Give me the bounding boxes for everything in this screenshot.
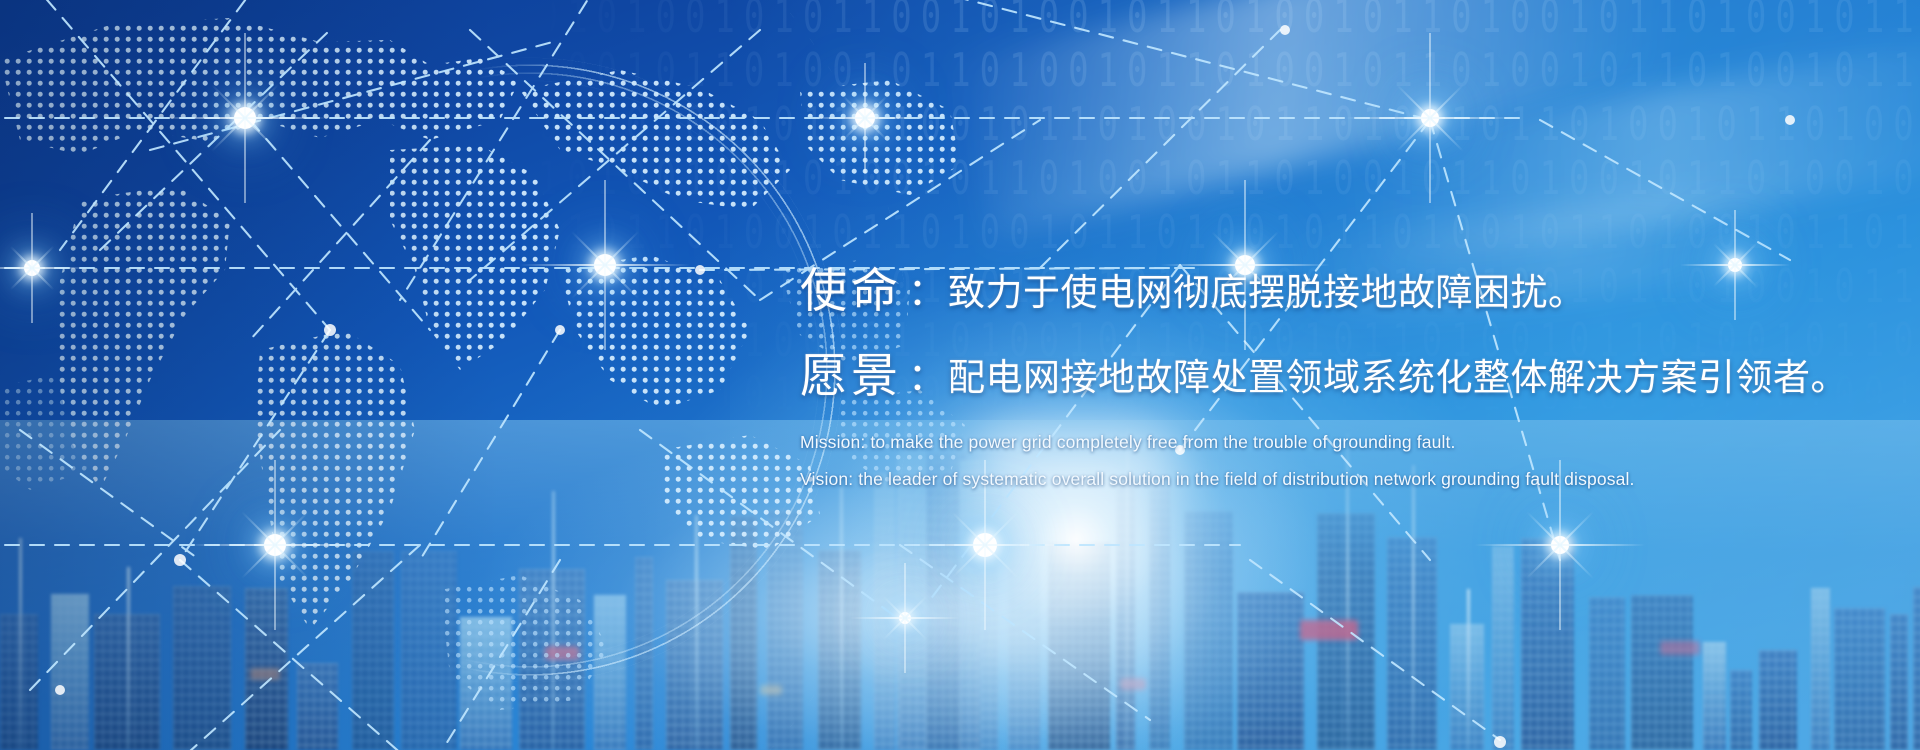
vision-line-cn: 愿景：配电网接地故障处置领域系统化整体解决方案引领者。	[800, 337, 1860, 406]
building	[594, 595, 626, 750]
building	[635, 557, 653, 750]
mission-text-cn: 致力于使电网彻底摆脱接地故障困扰。	[948, 271, 1586, 314]
mission-vision-copy: 使命：致力于使电网彻底摆脱接地故障困扰。 愿景：配电网接地故障处置领域系统化整体…	[800, 252, 1860, 488]
building	[730, 515, 757, 750]
building-spire	[695, 515, 698, 750]
building	[1834, 608, 1885, 750]
building	[1521, 538, 1574, 750]
neon-sign	[545, 646, 579, 660]
mission-line-en: Mission: to make the power grid complete…	[800, 434, 1860, 452]
building	[401, 551, 457, 750]
building	[1811, 588, 1830, 750]
building	[1589, 597, 1625, 750]
landmark-tower	[960, 460, 980, 750]
mission-label-cn: 使命	[800, 264, 902, 319]
building	[1730, 670, 1752, 750]
mission-line-cn: 使命：致力于使电网彻底摆脱接地故障困扰。	[800, 252, 1860, 321]
building-spire	[1412, 465, 1415, 750]
building	[1008, 471, 1040, 750]
mission-colon: ：	[902, 270, 948, 314]
building-spire	[127, 567, 130, 750]
building	[1149, 487, 1170, 750]
building	[352, 551, 394, 750]
vision-text-cn: 配电网接地故障处置领域系统化整体解决方案引领者。	[948, 356, 1848, 399]
vision-colon: ：	[902, 355, 948, 399]
building	[874, 473, 895, 750]
vision-line-en: Vision: the leader of systematic overall…	[800, 471, 1860, 489]
hero-banner: 0101001010110010100101101001011010010110…	[0, 0, 1920, 750]
building-spire	[552, 491, 555, 750]
building	[1237, 592, 1304, 750]
vision-label-cn: 愿景	[800, 349, 902, 404]
neon-sign	[760, 685, 782, 695]
neon-sign	[1300, 620, 1358, 640]
building-spire	[19, 538, 22, 750]
building	[51, 594, 89, 750]
building	[1703, 642, 1726, 750]
building-spire	[840, 487, 843, 750]
building-spire	[1467, 589, 1470, 750]
building	[1048, 542, 1110, 750]
building	[297, 663, 338, 750]
building	[1184, 511, 1233, 750]
building	[767, 510, 803, 750]
building	[1492, 546, 1514, 750]
building	[173, 586, 231, 750]
landmark-tower	[900, 450, 926, 750]
neon-sign	[250, 668, 280, 680]
neon-sign	[1660, 641, 1700, 655]
building	[1759, 650, 1797, 750]
building	[1890, 614, 1908, 750]
neon-sign	[1120, 678, 1146, 690]
building	[1913, 587, 1920, 750]
building	[1631, 595, 1693, 750]
building	[460, 617, 512, 750]
